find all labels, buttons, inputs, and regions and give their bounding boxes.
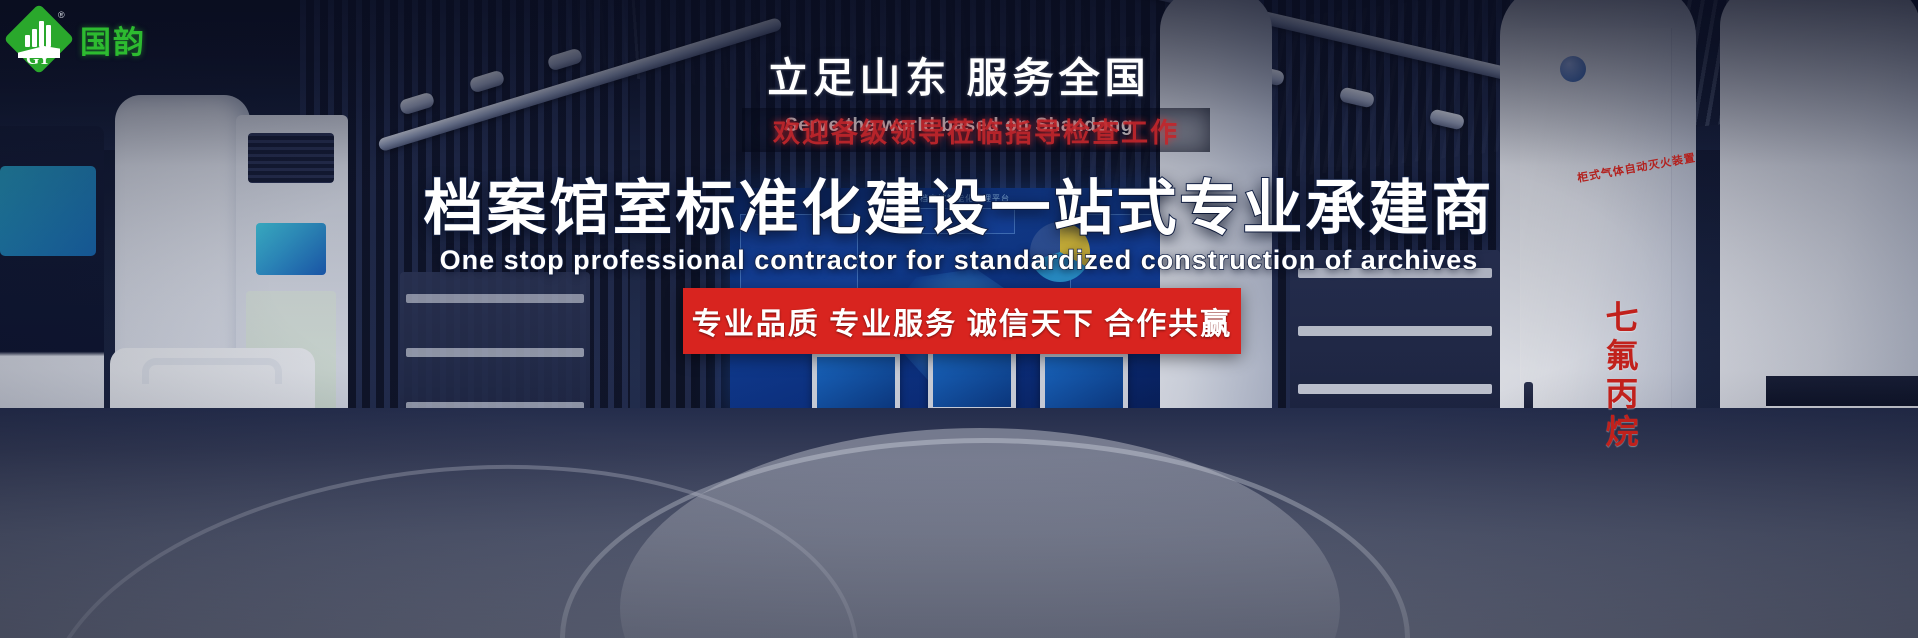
subline-english: One stop professional contractor for sta… — [0, 245, 1918, 276]
banner-stage: 档案馆智能化管理平台 — [0, 0, 1918, 638]
led-marquee-text: 欢迎各级领导莅临指导检查工作 — [773, 111, 1179, 150]
logo-mark-text: GY — [26, 49, 50, 69]
banner-text-overlay: GY ® 国韵 立足山东 服务全国 Serve the world based … — [0, 0, 1918, 638]
red-slogan-ribbon: 专业品质 专业服务 诚信天下 合作共赢 — [683, 288, 1241, 354]
registered-trademark-icon: ® — [58, 10, 65, 20]
kicker-chinese: 立足山东 服务全国 — [0, 44, 1918, 104]
ribbon-slogan-text: 专业品质 专业服务 诚信天下 合作共赢 — [692, 299, 1233, 343]
heptafluoropropane-vertical-label: 七氟丙烷 — [1598, 300, 1637, 452]
led-marquee: 欢迎各级领导莅临指导检查工作 — [742, 108, 1210, 152]
